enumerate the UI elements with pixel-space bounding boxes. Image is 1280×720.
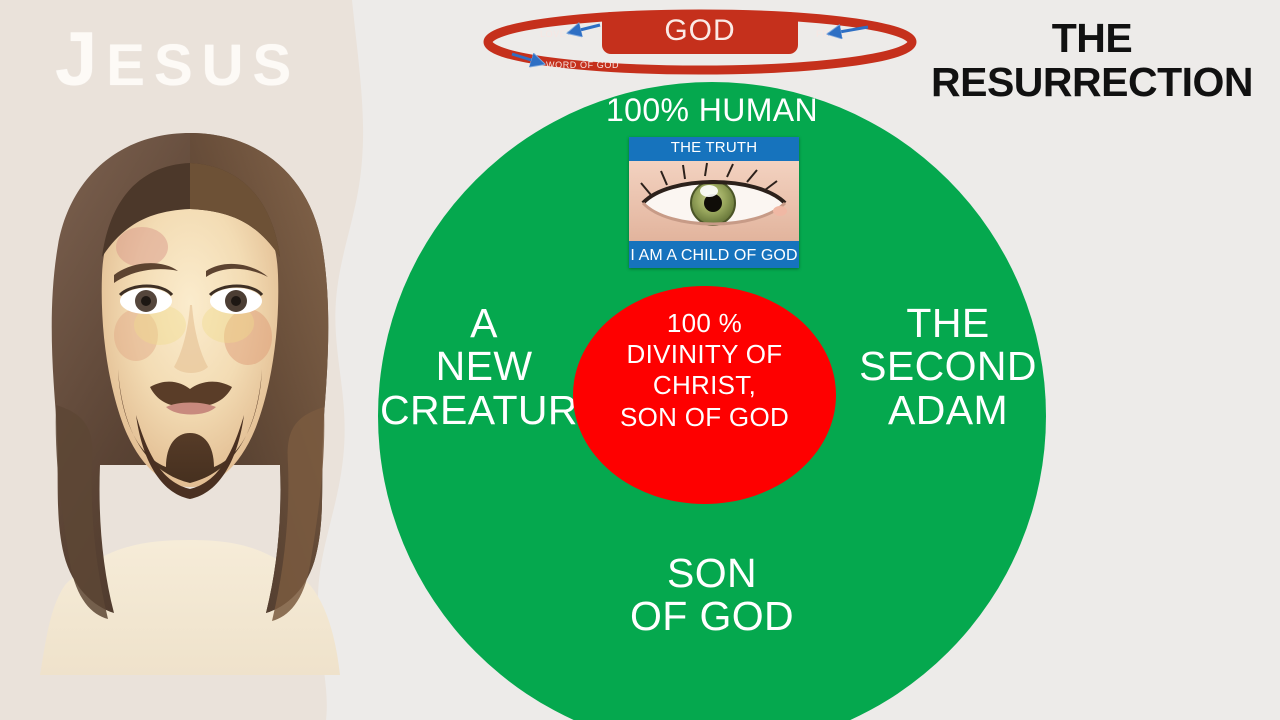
page-title-jesus: JESUS [55,22,300,98]
jesus-rest: ESUS [106,33,300,98]
label-100-percent-human: 100% HUMAN [378,94,1046,128]
eye-card-top-caption: THE TRUTH [629,139,799,156]
second-adam-line-1: THE [850,302,1046,345]
second-adam-line-2: SECOND [850,345,1046,388]
label-the-second-adam: THE SECOND ADAM [850,302,1046,432]
second-adam-line-3: ADAM [850,389,1046,432]
god-ring-diagram: LOVE FRUIT WORD OF GOD [480,2,920,88]
new-creature-line-3: CREATURE [380,389,588,432]
ring-label-word-of-god: WORD OF GOD [546,60,619,70]
jesus-initial: J [55,17,106,102]
new-creature-line-2: NEW [380,345,588,388]
son-of-god-line-1: SON [378,552,1046,595]
ring-label-love: LOVE [540,29,566,39]
divinity-line-3: CHRIST, [573,370,836,401]
resurrection-line-1: THE [922,16,1262,60]
new-creature-line-1: A [380,302,588,345]
slide-canvas: JESUS [0,0,1280,720]
divinity-line-4: SON OF GOD [573,402,836,433]
divinity-line-2: DIVINITY OF [573,339,836,370]
jesus-portrait-image [10,115,370,695]
son-of-god-line-2: OF GOD [378,595,1046,638]
page-title-resurrection: THE RESURRECTION [922,16,1262,105]
arrow-love-icon [568,25,600,33]
label-son-of-god: SON OF GOD [378,552,1046,639]
label-a-new-creature: A NEW CREATURE [380,302,588,432]
eye-card-bottom-caption: I AM A CHILD OF GOD [629,247,799,265]
divinity-line-1: 100 % [573,308,836,339]
truth-eye-card: THE TRUTH [629,137,799,268]
label-divinity-of-christ: 100 % DIVINITY OF CHRIST, SON OF GOD [573,308,836,433]
eye-icon [629,161,799,241]
